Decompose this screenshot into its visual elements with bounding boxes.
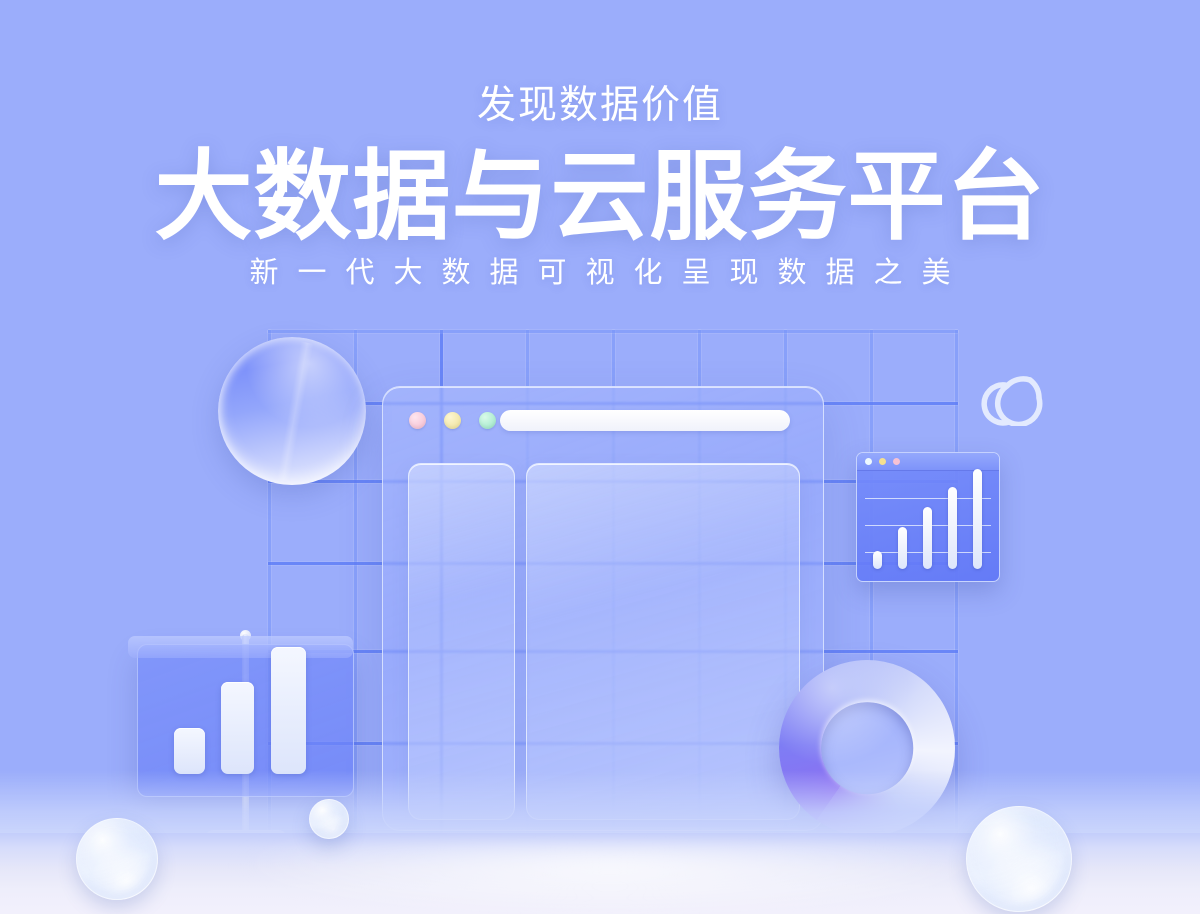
glass-sphere-left [76,818,158,900]
bar-item [948,487,957,569]
content-panel[interactable] [526,463,800,820]
close-dot[interactable] [409,412,426,429]
hero-banner: 发现数据价值 大数据与云服务平台 新一代大数据可视化呈现数据之美 [0,0,1200,914]
mini-dashboard-window[interactable] [856,452,1000,582]
maximize-dot[interactable] [479,412,496,429]
bar-item [221,682,254,774]
traffic-lights [409,412,496,429]
bar-item [973,469,982,569]
bar-item [898,527,907,569]
cloud-icon [976,364,1058,426]
floor-glow [230,845,990,914]
mini-dot-1[interactable] [865,458,872,465]
grid-line-v [955,330,958,840]
glass-sphere-right [966,806,1072,912]
bar-item [873,551,882,569]
bar-item [271,647,306,774]
sidebar-panel[interactable] [408,463,515,820]
mini-dot-3[interactable] [893,458,900,465]
bar-item [174,728,205,774]
grid-line-h [268,330,958,333]
mini-traffic-lights [865,458,900,465]
hero-text-block: 发现数据价值 大数据与云服务平台 新一代大数据可视化呈现数据之美 [0,86,1200,288]
bar-item [923,507,932,569]
browser-window[interactable] [382,386,824,831]
card-header-bar [128,636,353,658]
minimize-dot[interactable] [444,412,461,429]
gradient-disc [218,337,366,485]
hero-eyebrow: 发现数据价值 [0,86,1200,125]
hero-subline: 新一代大数据可视化呈现数据之美 [0,259,1200,288]
mini-dot-2[interactable] [879,458,886,465]
hero-headline: 大数据与云服务平台 [0,147,1200,247]
glass-sphere-small [309,799,349,839]
address-bar[interactable] [500,410,790,431]
